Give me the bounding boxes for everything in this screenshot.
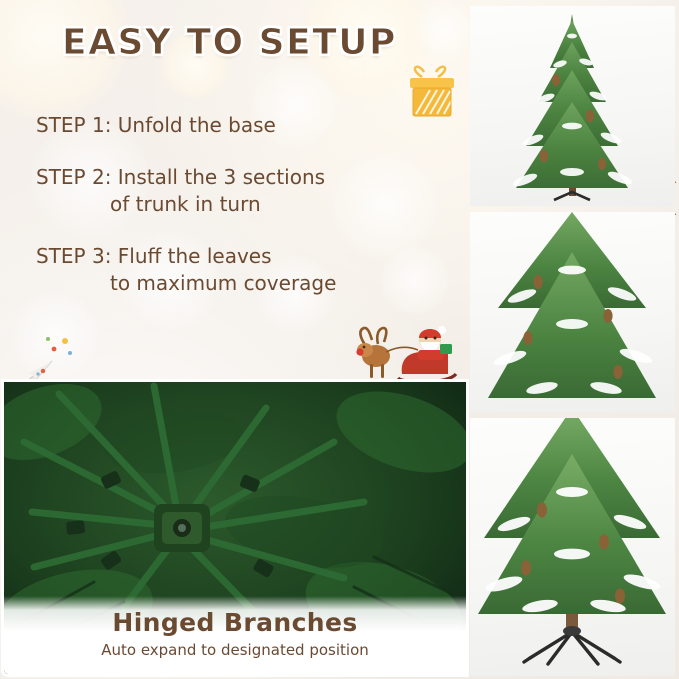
step-2-line-1: STEP 2: Install the 3 sections bbox=[36, 165, 325, 189]
bokeh-light bbox=[415, 0, 475, 60]
step-3-line-2: to maximum coverage bbox=[36, 270, 436, 298]
product-photo-base-stand bbox=[470, 418, 675, 676]
caption-title: Hinged Branches bbox=[4, 608, 466, 637]
santa-sleigh-icon bbox=[352, 316, 464, 390]
step-3-line-1: STEP 3: Fluff the leaves bbox=[36, 244, 272, 268]
step-2-line-2: of trunk in turn bbox=[36, 191, 436, 219]
setup-steps-list: STEP 1: Unfold the base STEP 2: Install … bbox=[36, 112, 436, 322]
list-item: STEP 1: Unfold the base bbox=[36, 112, 436, 140]
product-photo-full-tree bbox=[470, 6, 675, 206]
page-title: EASY TO SETUP bbox=[62, 22, 397, 63]
caption-subtitle: Auto expand to designated position bbox=[4, 641, 466, 659]
list-item: STEP 3: Fluff the leaves to maximum cove… bbox=[36, 243, 436, 298]
product-infographic-poster: EASY TO SETUP STEP 1: Unfold the base ST… bbox=[0, 0, 679, 679]
gift-box-icon bbox=[404, 62, 460, 120]
list-item: STEP 2: Install the 3 sections of trunk … bbox=[36, 164, 436, 219]
hinged-branches-panel: Hinged Branches Auto expand to designate… bbox=[4, 382, 466, 674]
product-photo-mid-detail bbox=[470, 212, 675, 412]
step-1-line-1: STEP 1: Unfold the base bbox=[36, 113, 276, 137]
hinged-branches-caption: Hinged Branches Auto expand to designate… bbox=[4, 596, 466, 674]
